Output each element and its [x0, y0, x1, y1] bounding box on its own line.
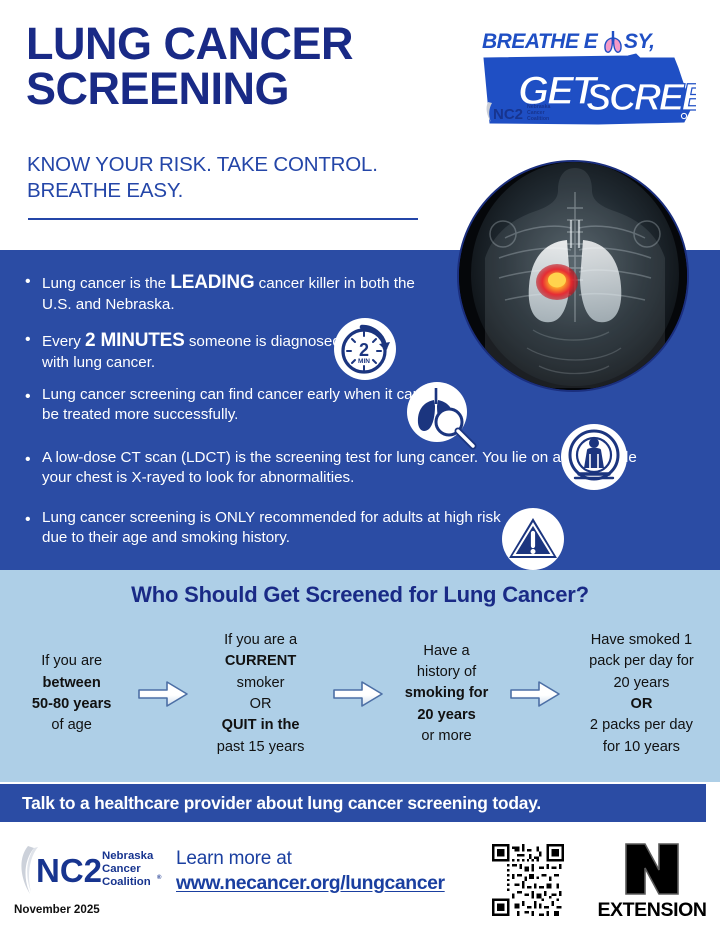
breathe-easy-get-screened-logo: BREATHE E SY, GET SCREENED NC2 Nebrask — [478, 24, 696, 136]
warning-triangle-icon — [502, 508, 564, 570]
page-title: LUNG CANCER SCREENING — [26, 22, 466, 111]
nc2-abbr: NC2 — [36, 852, 102, 889]
lungs-magnifier-icon — [399, 378, 483, 454]
learn-more-label: Learn more at — [176, 848, 506, 870]
criteria-line: CURRENT — [225, 653, 296, 669]
criteria-line: history of — [386, 662, 507, 683]
header-divider — [28, 218, 418, 220]
learn-more-block: Learn more at www.necancer.org/lungcance… — [176, 848, 506, 895]
qr-code[interactable] — [492, 844, 564, 916]
fact-find-early: •Lung cancer screening can find cancer e… — [42, 385, 424, 425]
fact-text-pre: A low-dose CT scan (LDCT) is the screeni… — [42, 449, 637, 486]
nc2-line2: Cancer — [102, 863, 141, 875]
criteria-column-smoking-status: If you are a CURRENT smoker OR QUIT in t… — [191, 630, 330, 758]
extension-label: EXTENSION — [597, 899, 706, 921]
chest-xray-image — [457, 160, 689, 392]
svg-text:NC2: NC2 — [493, 106, 523, 123]
clock-2-min-icon: 2 MIN — [334, 318, 396, 380]
fact-only-high-risk: •Lung cancer screening is ONLY recommend… — [42, 508, 522, 548]
criteria-line: OR — [630, 696, 652, 712]
fact-ldct-scan: •A low-dose CT scan (LDCT) is the screen… — [42, 448, 642, 488]
criteria-line: If you are a — [191, 630, 330, 651]
criteria-line: or more — [386, 726, 507, 747]
publication-date: November 2025 — [14, 903, 100, 916]
right-arrow-icon — [507, 679, 563, 709]
cta-text: Talk to a healthcare provider about lung… — [22, 793, 541, 814]
right-arrow-icon — [330, 679, 386, 709]
criteria-line: 2 packs per day — [563, 715, 720, 736]
svg-text:SY,: SY, — [624, 30, 654, 53]
criteria-line: smoking for — [405, 685, 489, 701]
bullet-dot: • — [25, 449, 31, 470]
criteria-column-smoking-history: Have a history of smoking for 20 years o… — [386, 641, 507, 747]
bullet-dot: • — [25, 386, 31, 407]
criteria-line: 20 years — [417, 707, 475, 723]
criteria-line: Have a — [386, 641, 507, 662]
clock-value: 2 — [359, 340, 369, 360]
criteria-line: pack per day for — [563, 651, 720, 672]
fact-text-pre: Lung cancer screening is ONLY recommende… — [42, 509, 501, 546]
nc2-line3: Coalition — [102, 876, 151, 888]
fact-text-strong: LEADING — [170, 272, 254, 293]
website-link[interactable]: www.necancer.org/lungcancer — [176, 872, 506, 895]
bullet-dot: • — [25, 509, 31, 530]
nebraska-n-icon — [626, 844, 678, 894]
ct-scanner-icon — [561, 424, 627, 490]
nc2-line1: Nebraska — [102, 850, 154, 862]
nebraska-extension-logo: EXTENSION — [596, 840, 708, 922]
bullet-dot: • — [25, 329, 31, 350]
svg-text:BREATHE E: BREATHE E — [482, 30, 599, 53]
nc2-logo: NC2 Nebraska Cancer Coalition ® — [14, 842, 166, 912]
footer: NC2 Nebraska Cancer Coalition ® November… — [0, 822, 720, 932]
page-subtitle: KNOW YOUR RISK. TAKE CONTROL. BREATHE EA… — [27, 152, 447, 204]
pink-lungs-icon — [605, 31, 621, 52]
fact-text-pre: Lung cancer screening can find cancer ea… — [42, 386, 421, 423]
criteria-line: 50-80 years — [32, 696, 112, 712]
screening-criteria-section: Who Should Get Screened for Lung Cancer?… — [0, 570, 720, 782]
call-to-action-bar: Talk to a healthcare provider about lung… — [0, 784, 706, 822]
fact-text-pre: Every — [42, 333, 85, 350]
header: LUNG CANCER SCREENING KNOW YOUR RISK. TA… — [0, 0, 720, 250]
fact-text-strong: 2 MINUTES — [85, 330, 185, 351]
bullet-dot: • — [25, 271, 31, 292]
svg-text:Coalition: Coalition — [527, 116, 549, 122]
criteria-line: smoker — [191, 673, 330, 694]
infographic-page: LUNG CANCER SCREENING KNOW YOUR RISK. TA… — [0, 0, 720, 932]
criteria-line: Have smoked 1 — [563, 630, 720, 651]
fact-leading-killer: •Lung cancer is the LEADING cancer kille… — [42, 270, 417, 315]
criteria-column-age: If you are between 50-80 years of age — [8, 651, 135, 736]
fact-text-pre: Lung cancer is the — [42, 275, 170, 292]
clock-unit: MIN — [358, 358, 370, 365]
svg-text:®: ® — [157, 874, 162, 881]
svg-text:SCREENED: SCREENED — [586, 77, 696, 119]
criteria-line: OR — [191, 694, 330, 715]
criteria-flow: If you are between 50-80 years of age — [0, 618, 720, 770]
criteria-line: If you are — [8, 651, 135, 672]
right-arrow-icon — [135, 679, 191, 709]
fact-every-2-minutes: •Every 2 MINUTES someone is diagnosed wi… — [42, 328, 352, 373]
criteria-line: for 10 years — [563, 737, 720, 758]
criteria-line: 20 years — [563, 673, 720, 694]
criteria-line: between — [42, 675, 100, 691]
criteria-line: of age — [8, 715, 135, 736]
criteria-line: QUIT in the — [222, 717, 300, 733]
criteria-line: past 15 years — [191, 737, 330, 758]
criteria-title: Who Should Get Screened for Lung Cancer? — [0, 582, 720, 608]
criteria-column-pack-years: Have smoked 1 pack per day for 20 years … — [563, 630, 720, 758]
